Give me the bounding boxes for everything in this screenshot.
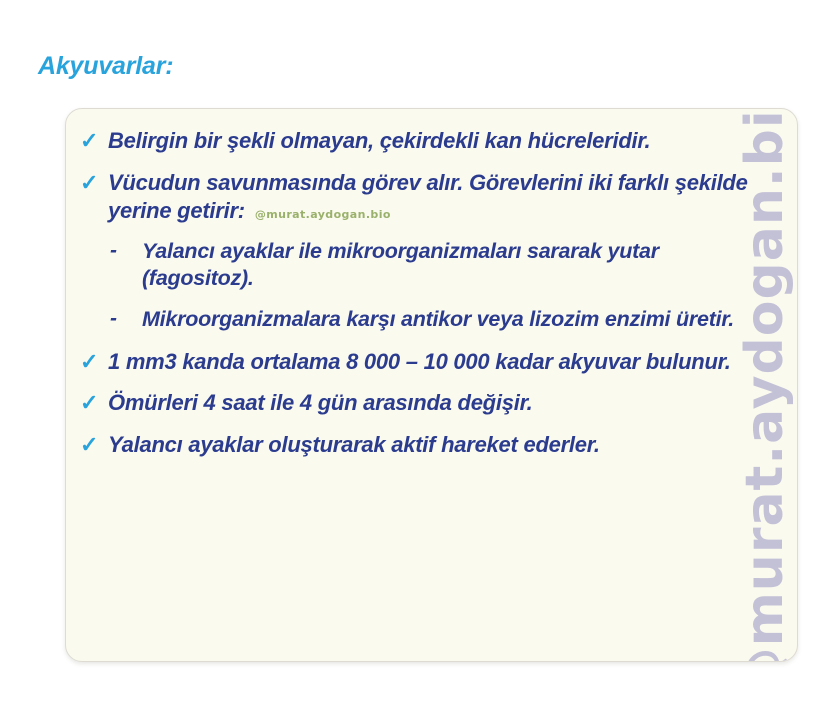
content-card: @murat.aydogan.bio ✓Belirgin bir şekli o…: [65, 108, 798, 662]
list-item-label: 1 mm3 kanda ortalama 8 000 – 10 000 kada…: [108, 349, 731, 374]
list-item-label: Mikroorganizmalara karşı antikor veya li…: [142, 307, 734, 331]
list-item: ✓1 mm3 kanda ortalama 8 000 – 10 000 kad…: [66, 348, 798, 376]
bullet-list: ✓Belirgin bir şekli olmayan, çekirdekli …: [66, 109, 798, 473]
list-item: ✓Ömürleri 4 saat ile 4 gün arasında deği…: [66, 389, 798, 417]
list-item-text: Mikroorganizmalara karşı antikor veya li…: [142, 306, 765, 333]
inline-watermark: @murat.aydogan.bio: [255, 208, 391, 221]
list-item-text: Yalancı ayaklar ile mikroorganizmaları s…: [142, 238, 765, 292]
page-title: Akyuvarlar:: [38, 52, 173, 81]
list-item-label: Yalancı ayaklar oluşturarak aktif hareke…: [108, 432, 600, 457]
list-item: -Mikroorganizmalara karşı antikor veya l…: [66, 306, 798, 333]
list-item-label: Yalancı ayaklar ile mikroorganizmaları s…: [142, 239, 659, 290]
list-item-label: Belirgin bir şekli olmayan, çekirdekli k…: [108, 128, 650, 153]
check-icon: ✓: [80, 170, 108, 197]
check-icon: ✓: [80, 390, 108, 417]
list-item-label: Vücudun savunmasında görev alır. Görevle…: [108, 170, 748, 223]
list-item: ✓Belirgin bir şekli olmayan, çekirdekli …: [66, 127, 798, 155]
list-item-text: Ömürleri 4 saat ile 4 gün arasında değiş…: [108, 389, 759, 417]
list-item-text: 1 mm3 kanda ortalama 8 000 – 10 000 kada…: [108, 348, 759, 376]
list-item: ✓Yalancı ayaklar oluşturarak aktif harek…: [66, 431, 798, 459]
list-item-text: Yalancı ayaklar oluşturarak aktif hareke…: [108, 431, 759, 459]
list-item: -Yalancı ayaklar ile mikroorganizmaları …: [66, 238, 798, 292]
list-item-label: Ömürleri 4 saat ile 4 gün arasında değiş…: [108, 390, 533, 415]
dash-icon: -: [110, 306, 142, 332]
check-icon: ✓: [80, 349, 108, 376]
slide-root: Akyuvarlar: @murat.aydogan.bio ✓Belirgin…: [0, 0, 828, 716]
check-icon: ✓: [80, 128, 108, 155]
list-item-text: Belirgin bir şekli olmayan, çekirdekli k…: [108, 127, 759, 155]
check-icon: ✓: [80, 432, 108, 459]
list-item-text: Vücudun savunmasında görev alır. Görevle…: [108, 169, 759, 224]
dash-icon: -: [110, 238, 142, 264]
list-item: ✓Vücudun savunmasında görev alır. Görevl…: [66, 169, 798, 224]
